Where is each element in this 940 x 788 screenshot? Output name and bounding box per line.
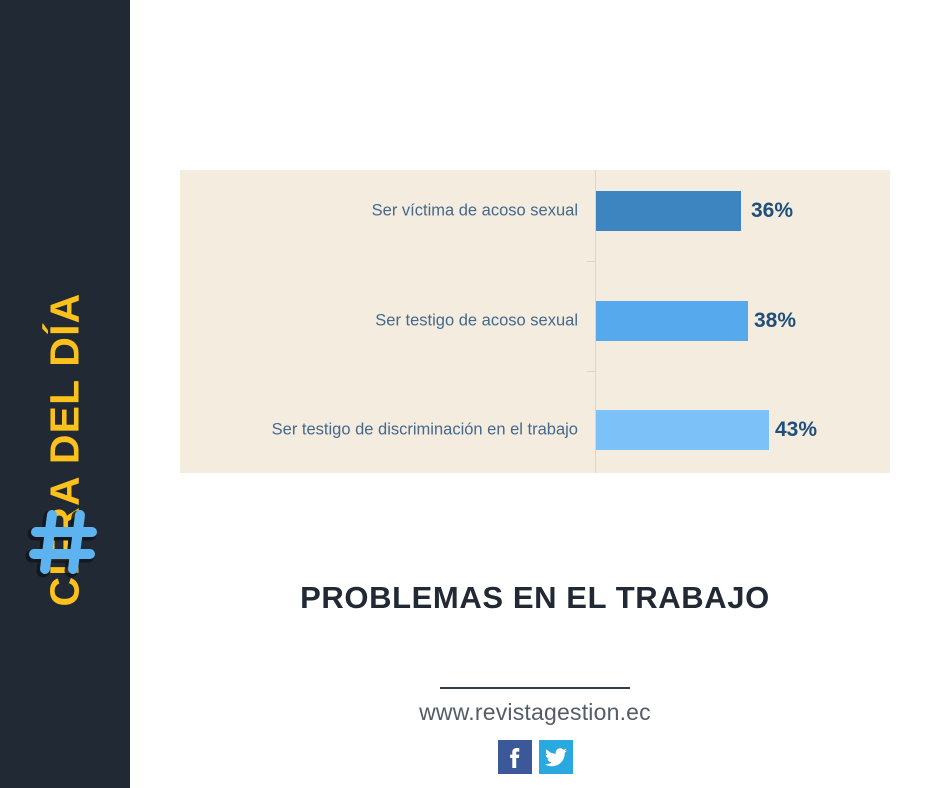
bar-chart: Ser víctima de acoso sexual 36% Ser test… bbox=[180, 170, 890, 473]
chart-bar bbox=[596, 410, 769, 450]
chart-bar-value: 38% bbox=[754, 309, 796, 333]
sidebar: CIFRA DEL DÍA bbox=[0, 0, 130, 788]
social-links bbox=[130, 740, 940, 774]
chart-bar-value: 43% bbox=[775, 418, 817, 442]
chart-bar-value: 36% bbox=[751, 199, 793, 223]
chart-bar-label: Ser testigo de discriminación en el trab… bbox=[180, 421, 578, 440]
infographic-canvas: CIFRA DEL DÍA bbox=[0, 0, 940, 788]
chart-bar-row: Ser testigo de discriminación en el trab… bbox=[180, 410, 890, 450]
chart-bar bbox=[596, 191, 741, 231]
twitter-icon[interactable] bbox=[539, 740, 573, 774]
footer-divider bbox=[440, 687, 630, 689]
chart-bar-row: Ser víctima de acoso sexual 36% bbox=[180, 191, 890, 231]
chart-axis-tick bbox=[587, 261, 595, 262]
chart-axis-tick bbox=[587, 371, 595, 372]
chart-bar-label: Ser testigo de acoso sexual bbox=[180, 312, 578, 331]
footer-url[interactable]: www.revistagestion.ec bbox=[130, 699, 940, 726]
facebook-icon[interactable] bbox=[498, 740, 532, 774]
chart-bar-row: Ser testigo de acoso sexual 38% bbox=[180, 301, 890, 341]
chart-bar bbox=[596, 301, 748, 341]
sidebar-vertical-title: CIFRA DEL DÍA bbox=[0, 0, 130, 470]
page-title: PROBLEMAS EN EL TRABAJO bbox=[130, 580, 940, 616]
hashtag-logo bbox=[22, 505, 108, 583]
chart-bar-label: Ser víctima de acoso sexual bbox=[180, 202, 578, 221]
